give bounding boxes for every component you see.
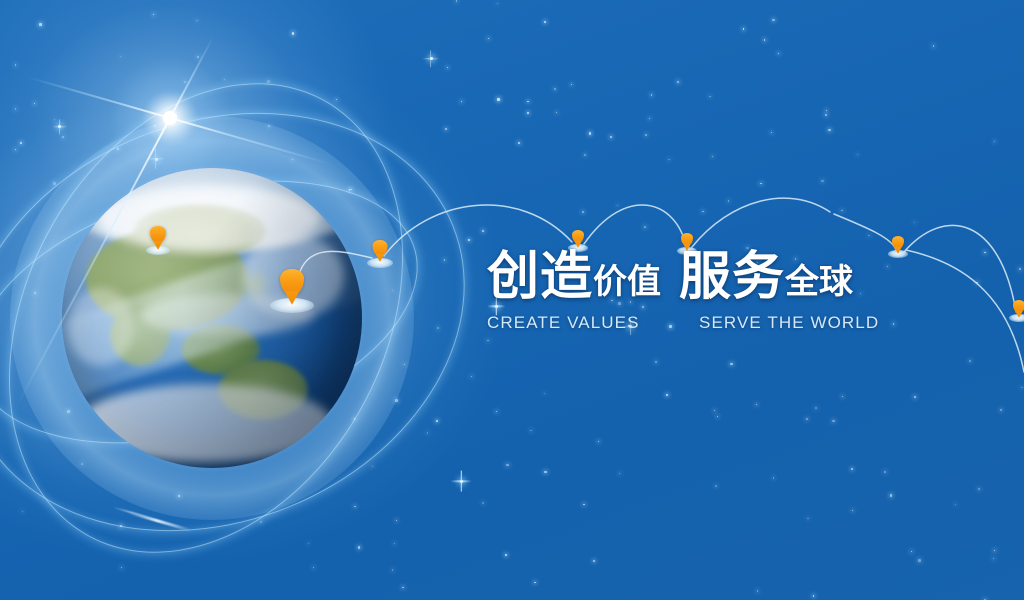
subheadline: CREATE VALUES SERVE THE WORLD	[487, 313, 917, 333]
banner-canvas: 创造 价值 服务 全球 CREATE VALUES SERVE THE WORL…	[0, 0, 1024, 600]
arc-7	[906, 250, 1024, 372]
subheadline-serve-the-world: SERVE THE WORLD	[699, 313, 879, 333]
arc-6	[904, 225, 1016, 312]
pin-marker-icon	[892, 236, 904, 249]
subheadline-create-values: CREATE VALUES	[487, 313, 699, 333]
arc-3	[584, 205, 686, 246]
pin-node-1[interactable]	[367, 240, 393, 272]
pin-base-disc	[1009, 314, 1024, 322]
pin-node-5[interactable]	[1009, 300, 1024, 326]
pin-marker-icon	[1013, 300, 1024, 313]
headline-serve: 服务	[679, 251, 785, 303]
headline: 创造 价值 服务 全球	[487, 251, 917, 303]
pin-marker-icon	[150, 226, 166, 243]
pin-globe-asia[interactable]	[146, 226, 170, 259]
headline-create: 创造	[487, 251, 593, 303]
pin-marker-icon	[373, 240, 388, 256]
pin-marker-icon	[280, 269, 304, 295]
arc-4	[692, 198, 830, 247]
headline-values: 价值	[593, 265, 661, 299]
pin-marker-icon	[681, 233, 693, 246]
pin-globe-oceania[interactable]	[270, 269, 314, 320]
headline-line: 创造 价值 服务 全球	[487, 251, 917, 303]
headline-world: 全球	[785, 265, 853, 299]
pin-marker-icon	[572, 230, 584, 243]
flare-core	[163, 111, 177, 125]
arc-5	[834, 214, 896, 250]
